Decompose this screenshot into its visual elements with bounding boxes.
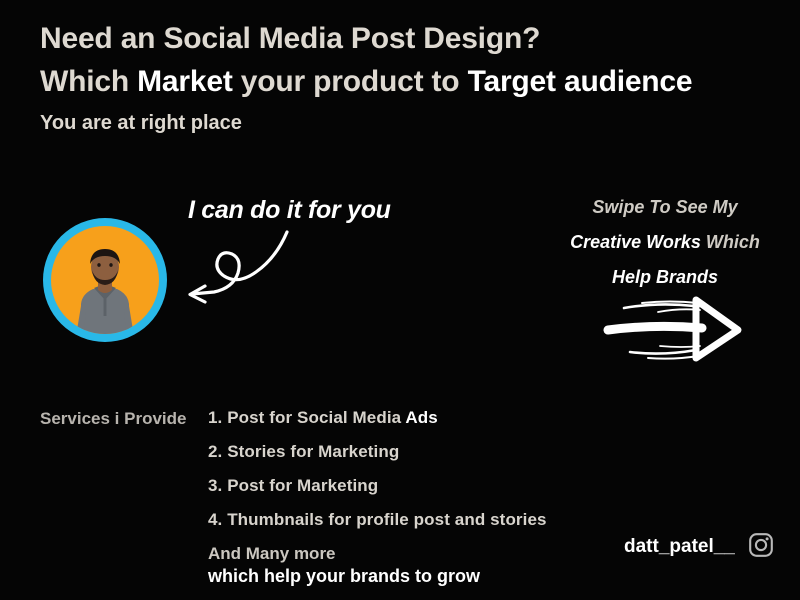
- headline-highlight-market: Market: [137, 65, 233, 98]
- avatar: [43, 218, 167, 342]
- headline-line2-segment-1: Which: [40, 65, 137, 98]
- services-list: 1. Post for Social Media Ads 2. Stories …: [208, 408, 728, 587]
- instagram-handle: datt_patel__: [624, 536, 735, 558]
- list-item: 2. Stories for Marketing: [208, 442, 728, 462]
- note-text: I can do it for you: [188, 196, 391, 225]
- headline-block: Need an Social Media Post Design? Which …: [40, 18, 780, 135]
- swipe-line-3: Help Brands: [545, 268, 785, 286]
- swipe-line2-suffix: Which: [701, 232, 760, 252]
- list-item-text: 4. Thumbnails for profile post and stori…: [208, 510, 547, 529]
- swipe-line-1: Swipe To See My: [545, 198, 785, 216]
- profile-photo-icon: [51, 226, 159, 334]
- poster-canvas: Need an Social Media Post Design? Which …: [0, 0, 800, 600]
- list-item: 4. Thumbnails for profile post and stori…: [208, 510, 728, 530]
- services-label: Services i Provide: [40, 409, 186, 429]
- curved-loop-arrow-left-icon: [172, 228, 292, 308]
- headline-line-1: Need an Social Media Post Design?: [40, 18, 780, 61]
- hand-drawn-right-arrow-icon: [598, 296, 744, 364]
- list-item-text: 1. Post for Social Media: [208, 408, 405, 427]
- list-item-text: 3. Post for Marketing: [208, 476, 378, 495]
- headline-line2-segment-2: your product to: [233, 65, 468, 98]
- services-more-line-2: which help your brands to grow: [208, 566, 728, 587]
- avatar-inner-circle: [51, 226, 159, 334]
- list-item: 1. Post for Social Media Ads: [208, 408, 728, 428]
- swipe-highlight-creative-works: Creative Works: [570, 232, 701, 252]
- instagram-icon[interactable]: [748, 532, 774, 558]
- headline-line-2: Which Market your product to Target audi…: [40, 61, 780, 104]
- list-item-highlight: Ads: [405, 408, 437, 427]
- headline-subtitle: You are at right place: [40, 112, 780, 135]
- swipe-line-2: Creative Works Which: [545, 233, 785, 251]
- swipe-block: Swipe To See My Creative Works Which Hel…: [545, 198, 785, 303]
- headline-highlight-target-audience: Target audience: [468, 65, 693, 98]
- list-item: 3. Post for Marketing: [208, 476, 728, 496]
- list-item-text: 2. Stories for Marketing: [208, 442, 399, 461]
